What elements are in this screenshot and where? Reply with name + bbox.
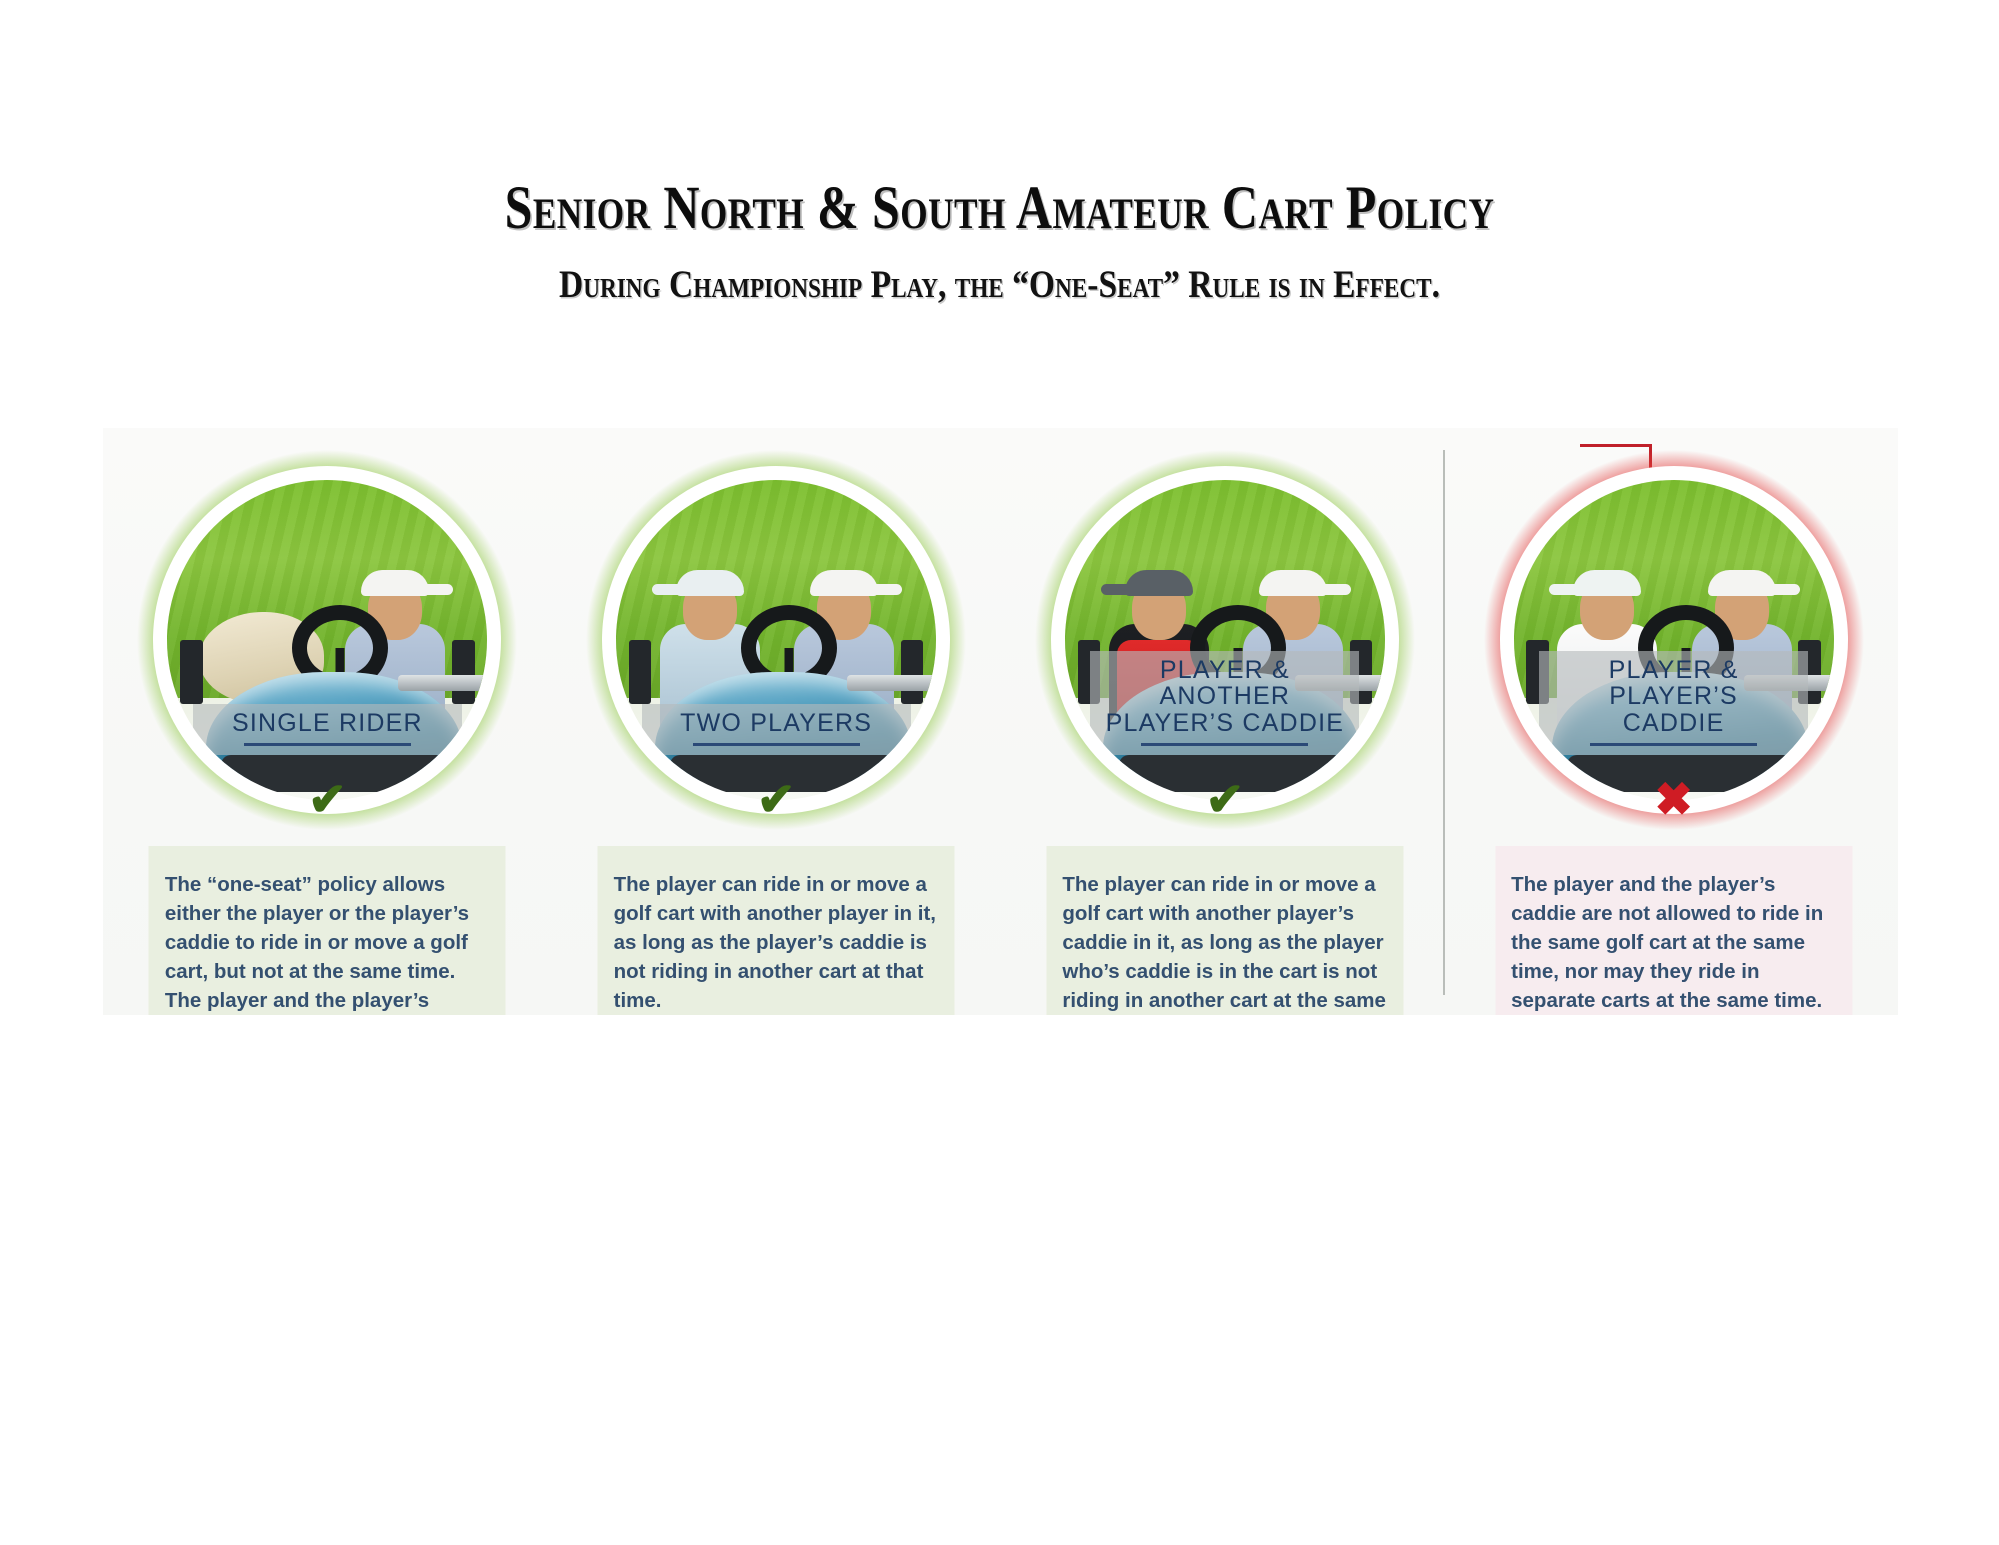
label-underline	[693, 743, 860, 746]
policy-panel-player-and-another-players-caddie[interactable]: USGA PLAYER	[1001, 428, 1450, 1015]
not-allowed-cross-icon: ✖	[1654, 776, 1693, 822]
policy-panel-single-rider[interactable]: SINGLE RIDER ✔ The “one-seat” policy all…	[103, 428, 552, 1015]
panel-description-box: The player can ride in or move a golf ca…	[598, 846, 955, 1015]
player-cap	[810, 570, 878, 596]
allowed-check-icon: ✔	[1206, 776, 1245, 822]
policy-panel-list: SINGLE RIDER ✔ The “one-seat” policy all…	[103, 428, 1898, 1015]
golf-cart-single-rider-photo: SINGLE RIDER	[167, 480, 487, 800]
page-header: Senior North & South Amateur Cart Policy…	[0, 0, 1999, 304]
panel-description-text: The player and the player’s caddie are n…	[1511, 870, 1836, 1015]
player-cap	[361, 570, 429, 596]
policy-panel-two-players[interactable]: TWO PLAYERS ✔ The player can ride in or …	[552, 428, 1001, 1015]
panel-label: PLAYER & ANOTHER PLAYER’S CADDIE	[1094, 657, 1355, 737]
panel-description-text: The “one-seat” policy allows either the …	[165, 870, 490, 1015]
panel-label: SINGLE RIDER	[197, 710, 458, 737]
photo-badge-single-rider: SINGLE RIDER ✔	[137, 450, 517, 830]
photo-badge-two-players: TWO PLAYERS ✔	[586, 450, 966, 830]
golf-cart-player-and-players-caddie-photo: USGA PLAYER	[1514, 480, 1834, 800]
player-cap	[1259, 570, 1327, 596]
panel-label-band: TWO PLAYERS	[642, 704, 911, 756]
photo-badge-player-and-another-players-caddie: USGA PLAYER	[1035, 450, 1415, 830]
allowed-check-icon: ✔	[757, 776, 796, 822]
panel-description-text: The player can ride in or move a golf ca…	[614, 870, 939, 1015]
panel-description-box: The “one-seat” policy allows either the …	[149, 846, 506, 1015]
caddie-cap	[1125, 570, 1193, 596]
page-title: Senior North & South Amateur Cart Policy	[180, 178, 1819, 239]
panel-label-band: PLAYER & PLAYER’S CADDIE	[1539, 651, 1808, 756]
cart-rail-right	[452, 640, 474, 704]
panel-label: PLAYER & PLAYER’S CADDIE	[1543, 657, 1804, 737]
golf-cart-player-and-another-players-caddie-photo: USGA PLAYER	[1065, 480, 1385, 800]
label-underline	[244, 743, 411, 746]
cart-side-rail	[847, 675, 937, 691]
label-underline	[1141, 743, 1308, 746]
player-cap	[676, 570, 744, 596]
photo-badge-player-and-players-caddie: USGA PLAYER	[1484, 450, 1864, 830]
cart-rail-left	[180, 640, 202, 704]
panel-description-box: The player can ride in or move a golf ca…	[1046, 846, 1403, 1015]
cart-rail-left	[629, 640, 651, 704]
policy-panel-player-and-players-caddie[interactable]: USGA PLAYER	[1449, 428, 1898, 1015]
label-underline	[1590, 743, 1757, 746]
panel-label-band: SINGLE RIDER	[193, 704, 462, 756]
page-subtitle: During Championship Play, the “One-Seat”…	[140, 239, 1859, 304]
panel-group-divider	[1443, 450, 1445, 995]
golf-cart-two-players-photo: TWO PLAYERS	[616, 480, 936, 800]
panel-label: TWO PLAYERS	[646, 710, 907, 737]
cart-policy-infographic: SINGLE RIDER ✔ The “one-seat” policy all…	[103, 428, 1898, 1015]
allowed-check-icon: ✔	[308, 776, 347, 822]
cart-rail-right	[901, 640, 923, 704]
callout-horizontal-line	[1580, 444, 1652, 447]
panel-description-box: The player and the player’s caddie are n…	[1495, 846, 1852, 1015]
panel-label-band: PLAYER & ANOTHER PLAYER’S CADDIE	[1090, 651, 1359, 756]
caddie-cap	[1573, 570, 1641, 596]
panel-description-text: The player can ride in or move a golf ca…	[1062, 870, 1387, 1015]
player-cap	[1708, 570, 1776, 596]
cart-side-rail	[398, 675, 488, 691]
